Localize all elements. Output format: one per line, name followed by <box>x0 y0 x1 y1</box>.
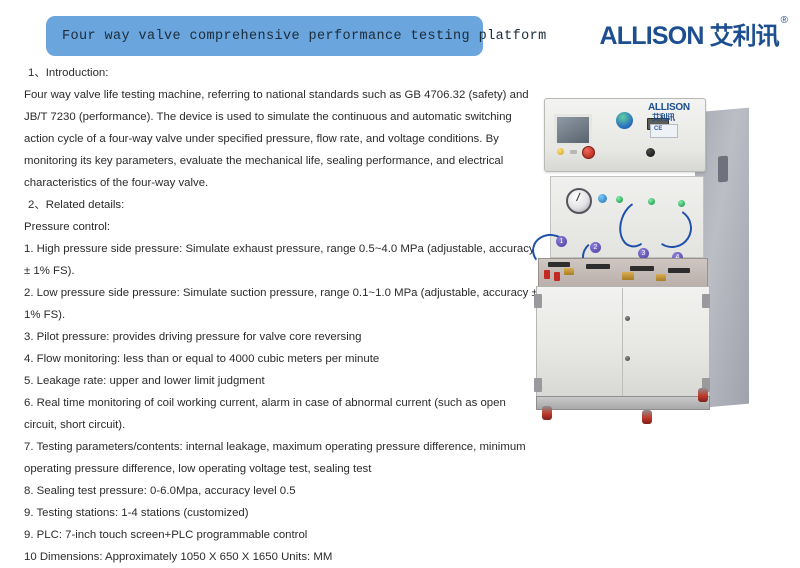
test-fixture-4 <box>668 268 690 273</box>
indicator-lamp-green-1-icon <box>616 196 623 203</box>
spec-item-7: 7. Testing parameters/contents: internal… <box>24 436 540 480</box>
cabinet-door-lock-lower-icon <box>625 356 630 361</box>
cabinet-door-divider <box>622 288 623 400</box>
clamp-red-1 <box>544 270 550 279</box>
certification-sticker-icon <box>616 112 633 129</box>
frame-bracket-top-left <box>534 294 542 308</box>
machine-brand-cjk: 艾利讯 <box>652 112 675 123</box>
lower-cabinet <box>536 286 710 404</box>
frame-bracket-bottom-left <box>534 378 542 392</box>
section-heading-introduction: 1、Introduction: <box>24 62 540 84</box>
section-heading-related-details: 2、Related details: <box>24 194 540 216</box>
test-fixture-3 <box>630 266 654 271</box>
clamp-red-2 <box>554 272 560 281</box>
push-button-silver-icon <box>570 150 577 154</box>
page-title-banner: Four way valve comprehensive performance… <box>46 16 483 56</box>
spec-item-8: 8. Sealing test pressure: 0-6.0Mpa, accu… <box>24 480 540 502</box>
caster-wheel-right <box>698 388 708 402</box>
indicator-lamp-green-3-icon <box>678 200 685 207</box>
control-knob-blue-icon <box>598 194 607 203</box>
push-button-black-icon <box>646 148 655 157</box>
subheading-pressure-control: Pressure control: <box>24 216 540 238</box>
brand-logo: ALLISON 艾利讯 ® <box>600 24 789 49</box>
caster-wheel-center <box>642 410 652 424</box>
hmi-touchscreen <box>554 114 592 146</box>
frame-bracket-top-right <box>702 294 710 308</box>
machine-label-mark: CE <box>654 126 662 132</box>
spec-item-9-stations: 9. Testing stations: 1-4 stations (custo… <box>24 502 540 524</box>
station-badge-2: 2 <box>590 242 601 253</box>
product-photo: ALLISON 艾利讯 CE 1 2 3 4 <box>530 88 798 440</box>
description-text-block: 1、Introduction: Four way valve life test… <box>24 62 540 568</box>
registered-trademark-icon: ® <box>781 16 788 26</box>
spec-item-4: 4. Flow monitoring: less than or equal t… <box>24 348 540 370</box>
test-fixture-2 <box>586 264 610 269</box>
cabinet-base-rail <box>536 396 710 410</box>
spec-item-3: 3. Pilot pressure: provides driving pres… <box>24 326 540 348</box>
brand-latin-text: ALLISON <box>600 24 704 49</box>
spec-item-10-dimensions: 10 Dimensions: Approximately 1050 X 650 … <box>24 546 540 568</box>
spec-item-2: 2. Low pressure side pressure: Simulate … <box>24 282 540 326</box>
spec-item-5: 5. Leakage rate: upper and lower limit j… <box>24 370 540 392</box>
spec-item-6: 6. Real time monitoring of coil working … <box>24 392 540 436</box>
caster-wheel-left <box>542 406 552 420</box>
brand-cjk-text: 艾利讯 <box>710 24 779 48</box>
brass-fitting-3 <box>656 274 666 281</box>
emergency-stop-button-icon <box>582 146 595 159</box>
indicator-lamp-yellow-icon <box>557 148 564 155</box>
side-door-handle-icon <box>718 156 728 183</box>
brass-fitting-1 <box>564 268 574 275</box>
cabinet-door-lock-upper-icon <box>625 316 630 321</box>
page-title: Four way valve comprehensive performance… <box>46 29 547 44</box>
spec-item-1: 1. High pressure side pressure: Simulate… <box>24 238 540 282</box>
paragraph-introduction: Four way valve life testing machine, ref… <box>24 84 540 194</box>
test-fixture-1 <box>548 262 570 267</box>
spec-item-9-plc: 9. PLC: 7-inch touch screen+PLC programm… <box>24 524 540 546</box>
station-badge-1: 1 <box>556 236 567 247</box>
brass-fitting-2 <box>622 272 634 280</box>
